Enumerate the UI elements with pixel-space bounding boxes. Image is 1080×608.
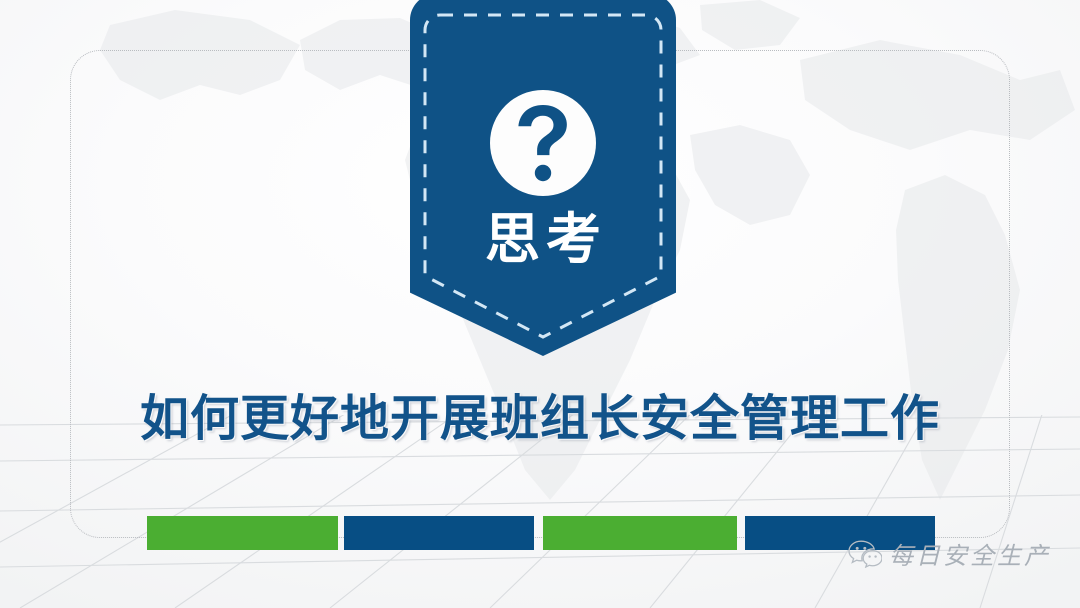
presentation-slide: 思考 如何更好地开展班组长安全管理工作 每日安全生产: [0, 0, 1080, 608]
ribbon-label: 思考: [410, 212, 676, 267]
bar-segment-2: [344, 516, 534, 550]
bottom-bar-group: [0, 516, 1080, 550]
page-title: 如何更好地开展班组长安全管理工作: [0, 392, 1080, 446]
bar-segment-4: [745, 516, 935, 550]
bar-segment-3: [543, 516, 737, 550]
bar-segment-1: [147, 516, 338, 550]
question-mark-icon: [490, 90, 596, 196]
thought-ribbon-banner: 思考: [410, 0, 676, 356]
